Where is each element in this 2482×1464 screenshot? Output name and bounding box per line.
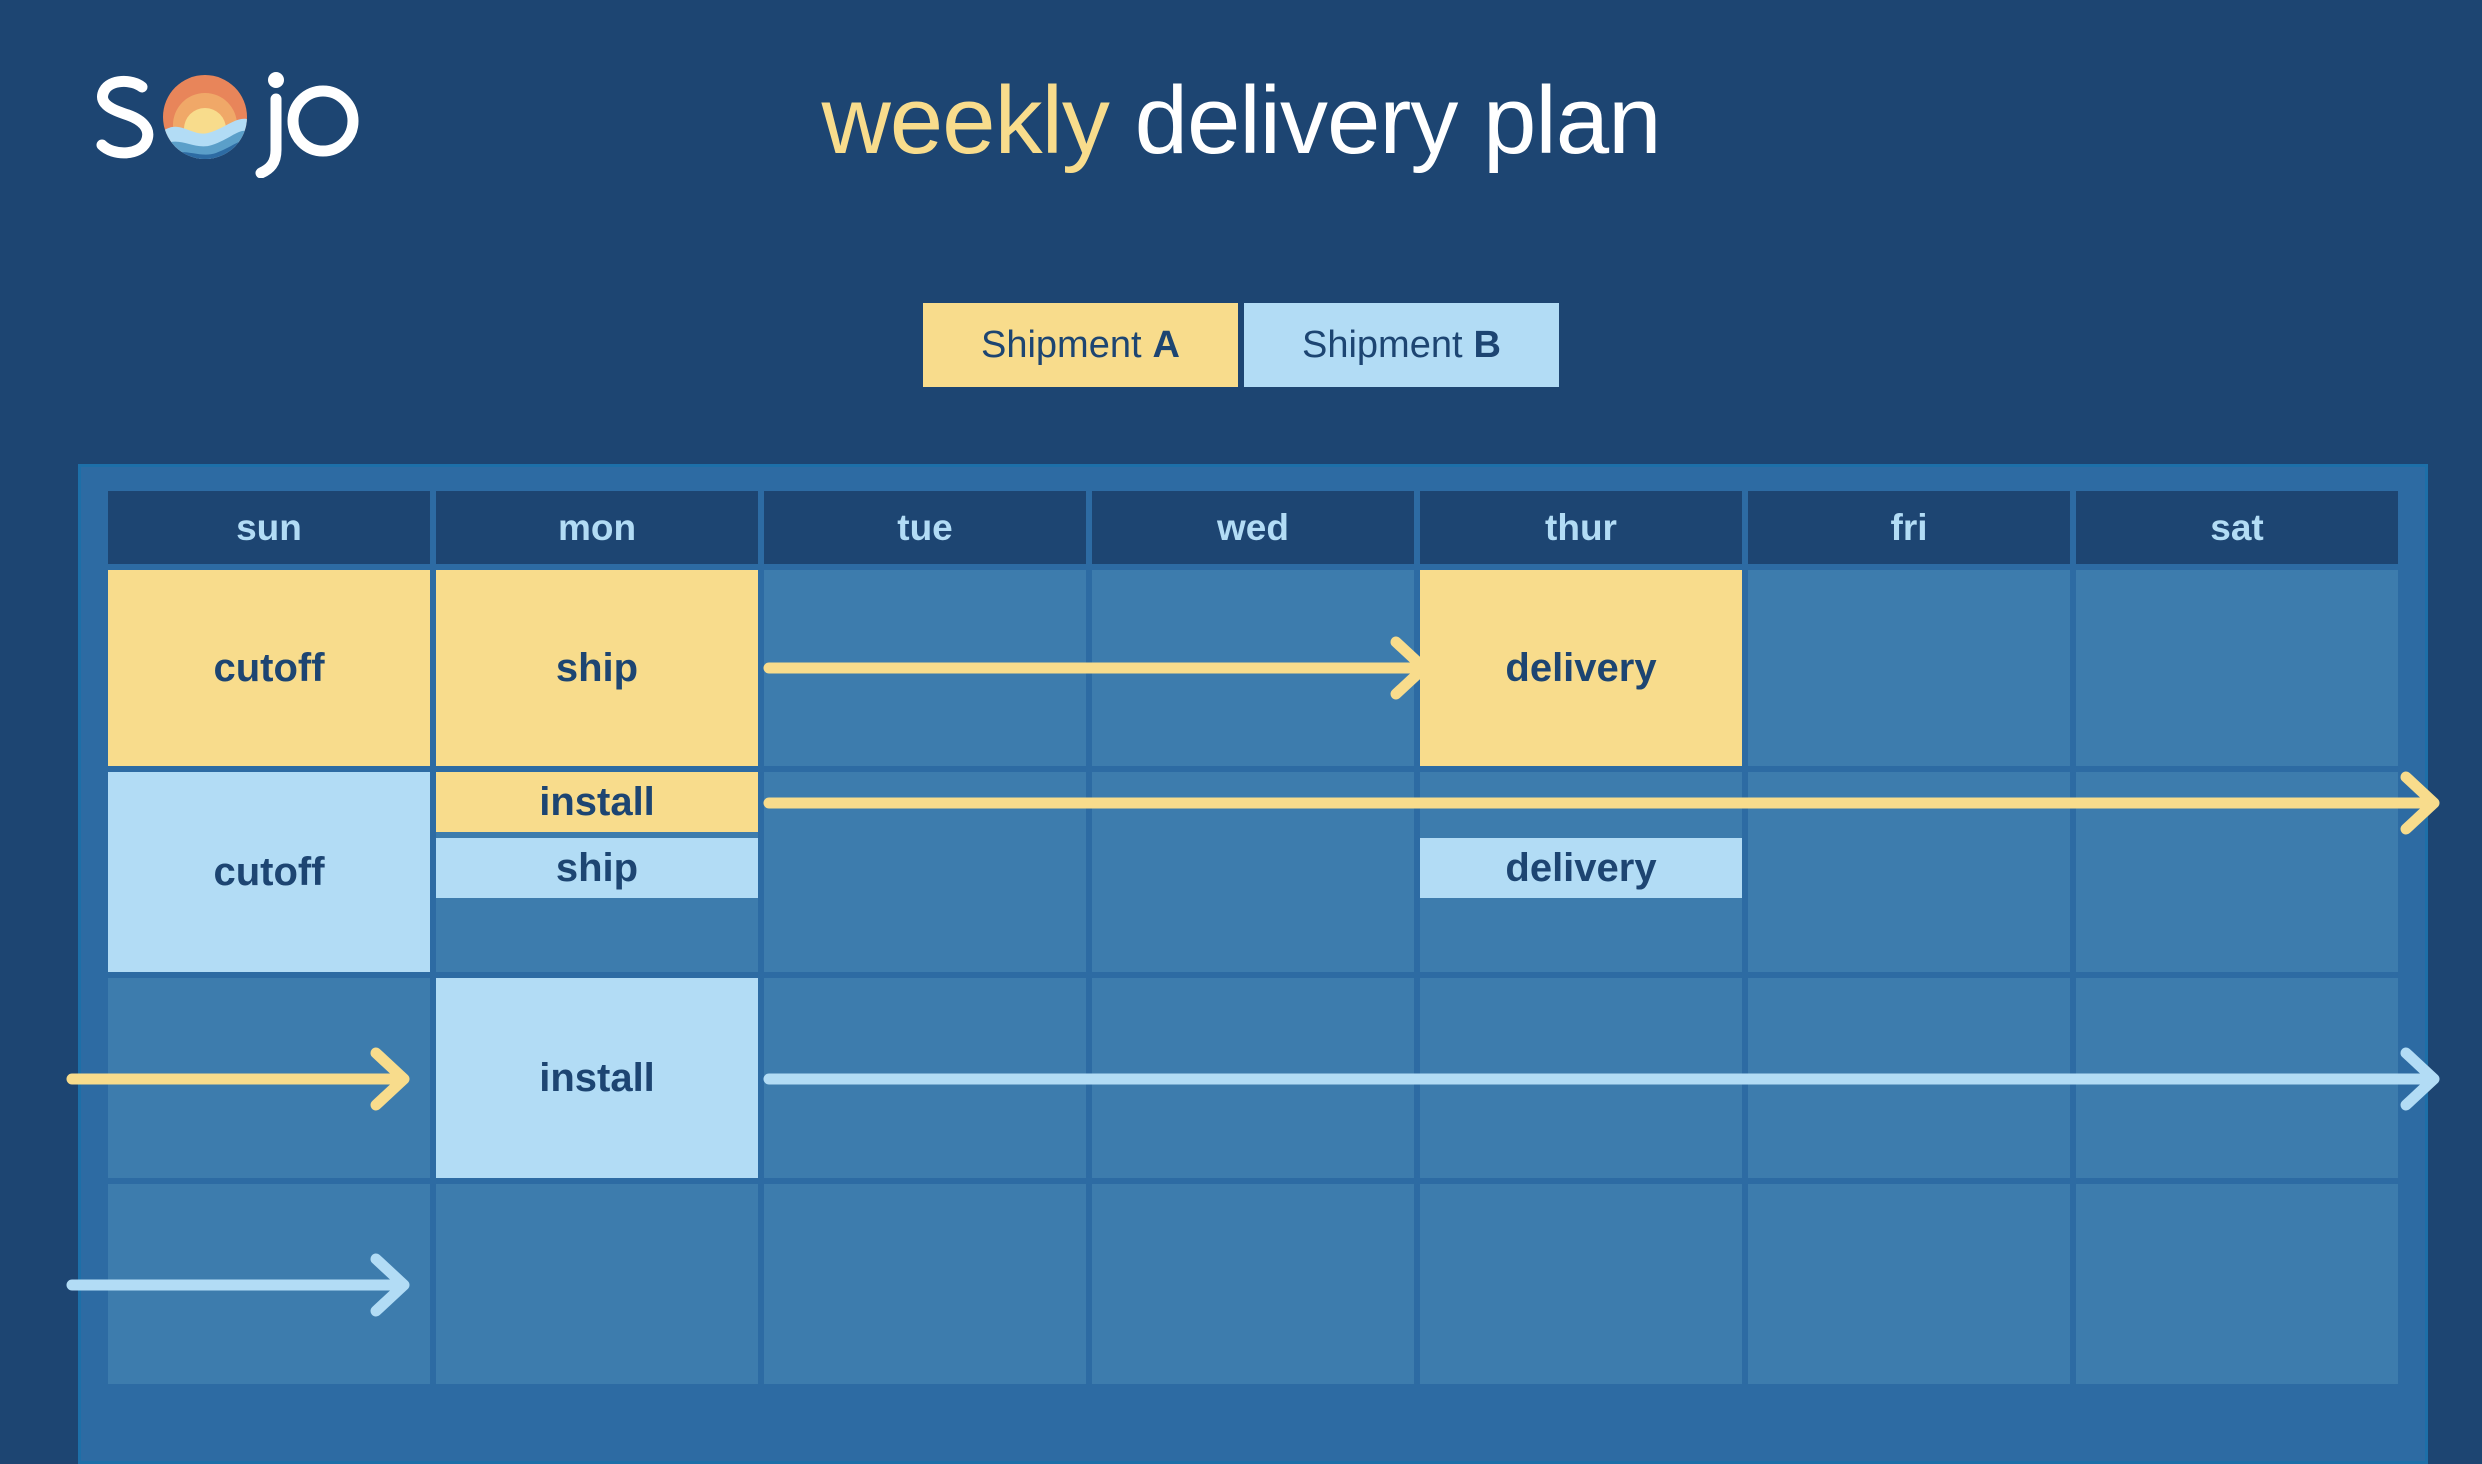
page-title-accent: weekly — [821, 67, 1108, 174]
legend-chip-shipment-b[interactable]: Shipment B — [1244, 303, 1559, 387]
cell-r4-wed[interactable] — [1092, 1184, 1414, 1384]
page-title: weekly delivery plan — [0, 68, 2482, 174]
cell-r1-thur[interactable]: delivery — [1420, 570, 1742, 766]
cell-r3-thur[interactable] — [1420, 978, 1742, 1178]
cell-r2-thur[interactable]: delivery — [1420, 772, 1742, 972]
day-header-thur: thur — [1420, 491, 1742, 564]
calendar-header-row: sun mon tue wed thur fri sat — [108, 491, 2398, 564]
legend-chip-a-label: Shipment — [981, 324, 1142, 367]
day-header-fri: fri — [1748, 491, 2070, 564]
cell-r4-fri[interactable] — [1748, 1184, 2070, 1384]
day-header-sun: sun — [108, 491, 430, 564]
calendar-week-row-3: install — [108, 978, 2398, 1178]
calendar-week-row-4 — [108, 1184, 2398, 1384]
cell-r2-sat[interactable] — [2076, 772, 2398, 972]
legend-chip-shipment-a[interactable]: Shipment A — [923, 303, 1238, 387]
cell-r2-wed[interactable] — [1092, 772, 1414, 972]
cell-r3-wed[interactable] — [1092, 978, 1414, 1178]
day-header-tue: tue — [764, 491, 1086, 564]
cell-r1-tue[interactable] — [764, 570, 1086, 766]
day-header-mon: mon — [436, 491, 758, 564]
event-cutoff-a[interactable]: cutoff — [108, 570, 430, 766]
page-title-rest: delivery plan — [1109, 67, 1661, 174]
day-header-wed: wed — [1092, 491, 1414, 564]
cell-r1-fri[interactable] — [1748, 570, 2070, 766]
cell-r2-sun[interactable]: cutoff — [108, 772, 430, 972]
event-delivery-a[interactable]: delivery — [1420, 570, 1742, 766]
cell-r3-fri[interactable] — [1748, 978, 2070, 1178]
shipment-legend: Shipment A Shipment B — [0, 303, 2482, 387]
event-ship-a[interactable]: ship — [436, 570, 758, 766]
cell-r2-mon[interactable]: install ship — [436, 772, 758, 972]
cell-r3-tue[interactable] — [764, 978, 1086, 1178]
cell-r3-mon[interactable]: install — [436, 978, 758, 1178]
cell-r2-fri[interactable] — [1748, 772, 2070, 972]
cell-r1-sat[interactable] — [2076, 570, 2398, 766]
cell-r2-tue[interactable] — [764, 772, 1086, 972]
cell-r4-tue[interactable] — [764, 1184, 1086, 1384]
event-install-b[interactable]: install — [436, 978, 758, 1178]
calendar-grid: sun mon tue wed thur fri sat cutoff ship… — [108, 491, 2398, 1384]
cell-r4-mon[interactable] — [436, 1184, 758, 1384]
cell-r1-sun[interactable]: cutoff — [108, 570, 430, 766]
legend-chip-b-label: Shipment — [1302, 324, 1463, 367]
cell-r4-sun[interactable] — [108, 1184, 430, 1384]
cell-r4-thur[interactable] — [1420, 1184, 1742, 1384]
calendar-week-row-2: cutoff install ship delivery — [108, 772, 2398, 972]
cell-r1-wed[interactable] — [1092, 570, 1414, 766]
cell-r3-sat[interactable] — [2076, 978, 2398, 1178]
cell-r3-sun[interactable] — [108, 978, 430, 1178]
weekly-calendar: sun mon tue wed thur fri sat cutoff ship… — [78, 464, 2428, 1464]
legend-chip-a-key: A — [1153, 324, 1180, 367]
event-install-a[interactable]: install — [436, 772, 758, 832]
cell-r4-sat[interactable] — [2076, 1184, 2398, 1384]
event-ship-b[interactable]: ship — [436, 838, 758, 898]
event-cutoff-b[interactable]: cutoff — [108, 772, 430, 972]
legend-chip-b-key: B — [1474, 324, 1501, 367]
page-header: weekly delivery plan — [0, 0, 2482, 270]
cell-r1-mon[interactable]: ship — [436, 570, 758, 766]
day-header-sat: sat — [2076, 491, 2398, 564]
calendar-week-row-1: cutoff ship delivery — [108, 570, 2398, 766]
event-delivery-b[interactable]: delivery — [1420, 838, 1742, 898]
